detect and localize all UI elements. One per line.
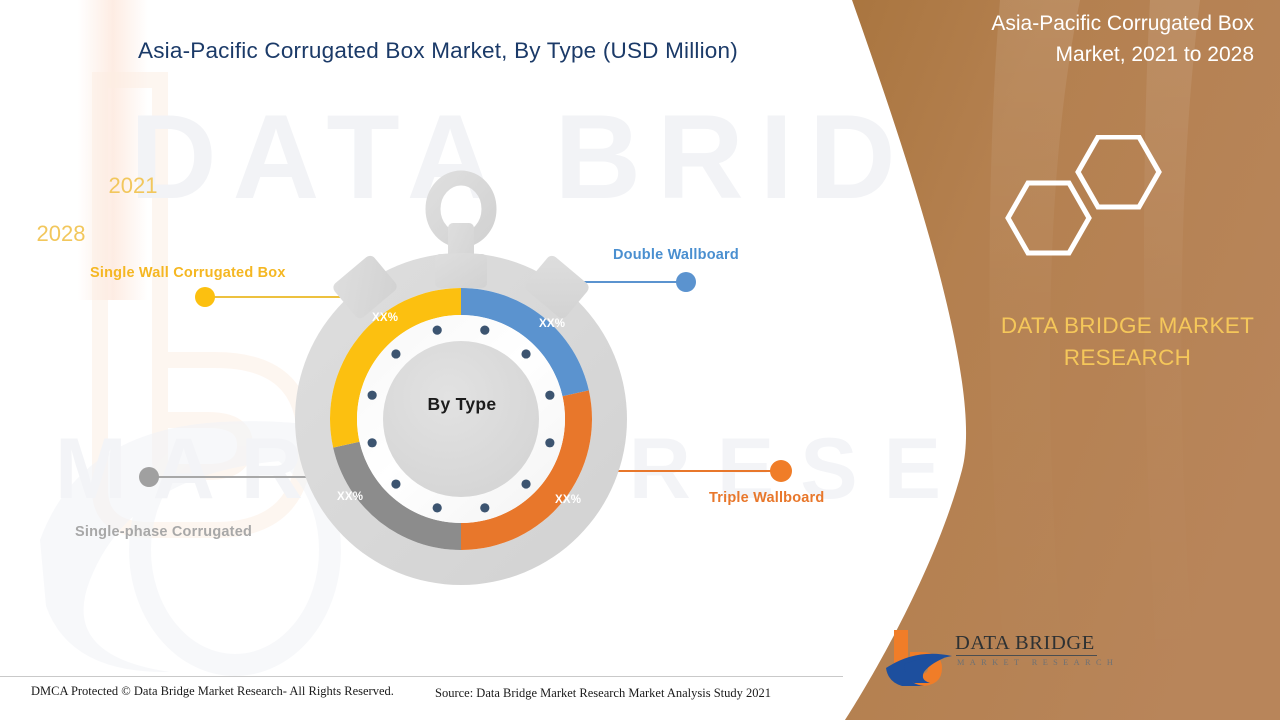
brand-name: DATA BRIDGE MARKET RESEARCH [985,310,1270,374]
segment-pct-single-phase: XX% [337,491,363,503]
callout-label-single-phase: Single-phase Corrugated [75,524,252,540]
segment-pct-double-wallboard: XX% [539,318,565,330]
dial-tick-dot [480,503,489,512]
dial-tick-dot [521,349,530,358]
dial-tick-dot [391,479,400,488]
callout-label-single-wall: Single Wall Corrugated Box [90,265,286,281]
dial-tick-dot [433,503,442,512]
segment-pct-triple-wallboard: XX% [555,494,581,506]
dial-tick-dot [521,479,530,488]
callout-label-double-wallboard: Double Wallboard [613,247,739,263]
hexagon-label-2028: 2028 [21,221,101,247]
footer-divider [0,676,843,677]
footer-source: Source: Data Bridge Market Research Mark… [435,686,771,701]
footer-copyright: DMCA Protected © Data Bridge Market Rese… [31,684,394,699]
dial-hub [383,341,539,497]
hexagon-2021-outline [1078,137,1159,207]
donut-chart-svg [267,160,657,610]
dial-tick-dot [480,326,489,335]
panel-title: Asia-Pacific Corrugated Box Market, 2021… [954,8,1254,70]
hexagon-label-2021: 2021 [93,173,173,199]
dial-tick-dot [545,391,554,400]
dial-tick-dot [391,349,400,358]
dial-tick-dot [545,438,554,447]
page-title: Asia-Pacific Corrugated Box Market, By T… [138,38,738,64]
segment-pct-single-wall: XX% [372,312,398,324]
donut-chart: By Type XX% XX% XX% XX% [267,160,657,610]
hexagon-2028-outline [1008,183,1089,253]
dial-tick-dot [368,438,377,447]
logo-tagline: MARKET RESEARCH [957,658,1118,667]
infographic-canvas: DATA BRIDGE MARKET RESEARCH Asia-Pacific… [0,0,1280,720]
logo-underline [956,655,1097,656]
hexagon-pair [980,135,1200,265]
data-bridge-logo: DATA BRIDGE MARKET RESEARCH [880,628,1120,694]
logo-wordmark: DATA BRIDGE [955,632,1095,655]
dial-tick-dot [368,391,377,400]
dial-tick-dot [433,326,442,335]
callout-label-triple-wallboard: Triple Wallboard [709,490,824,506]
